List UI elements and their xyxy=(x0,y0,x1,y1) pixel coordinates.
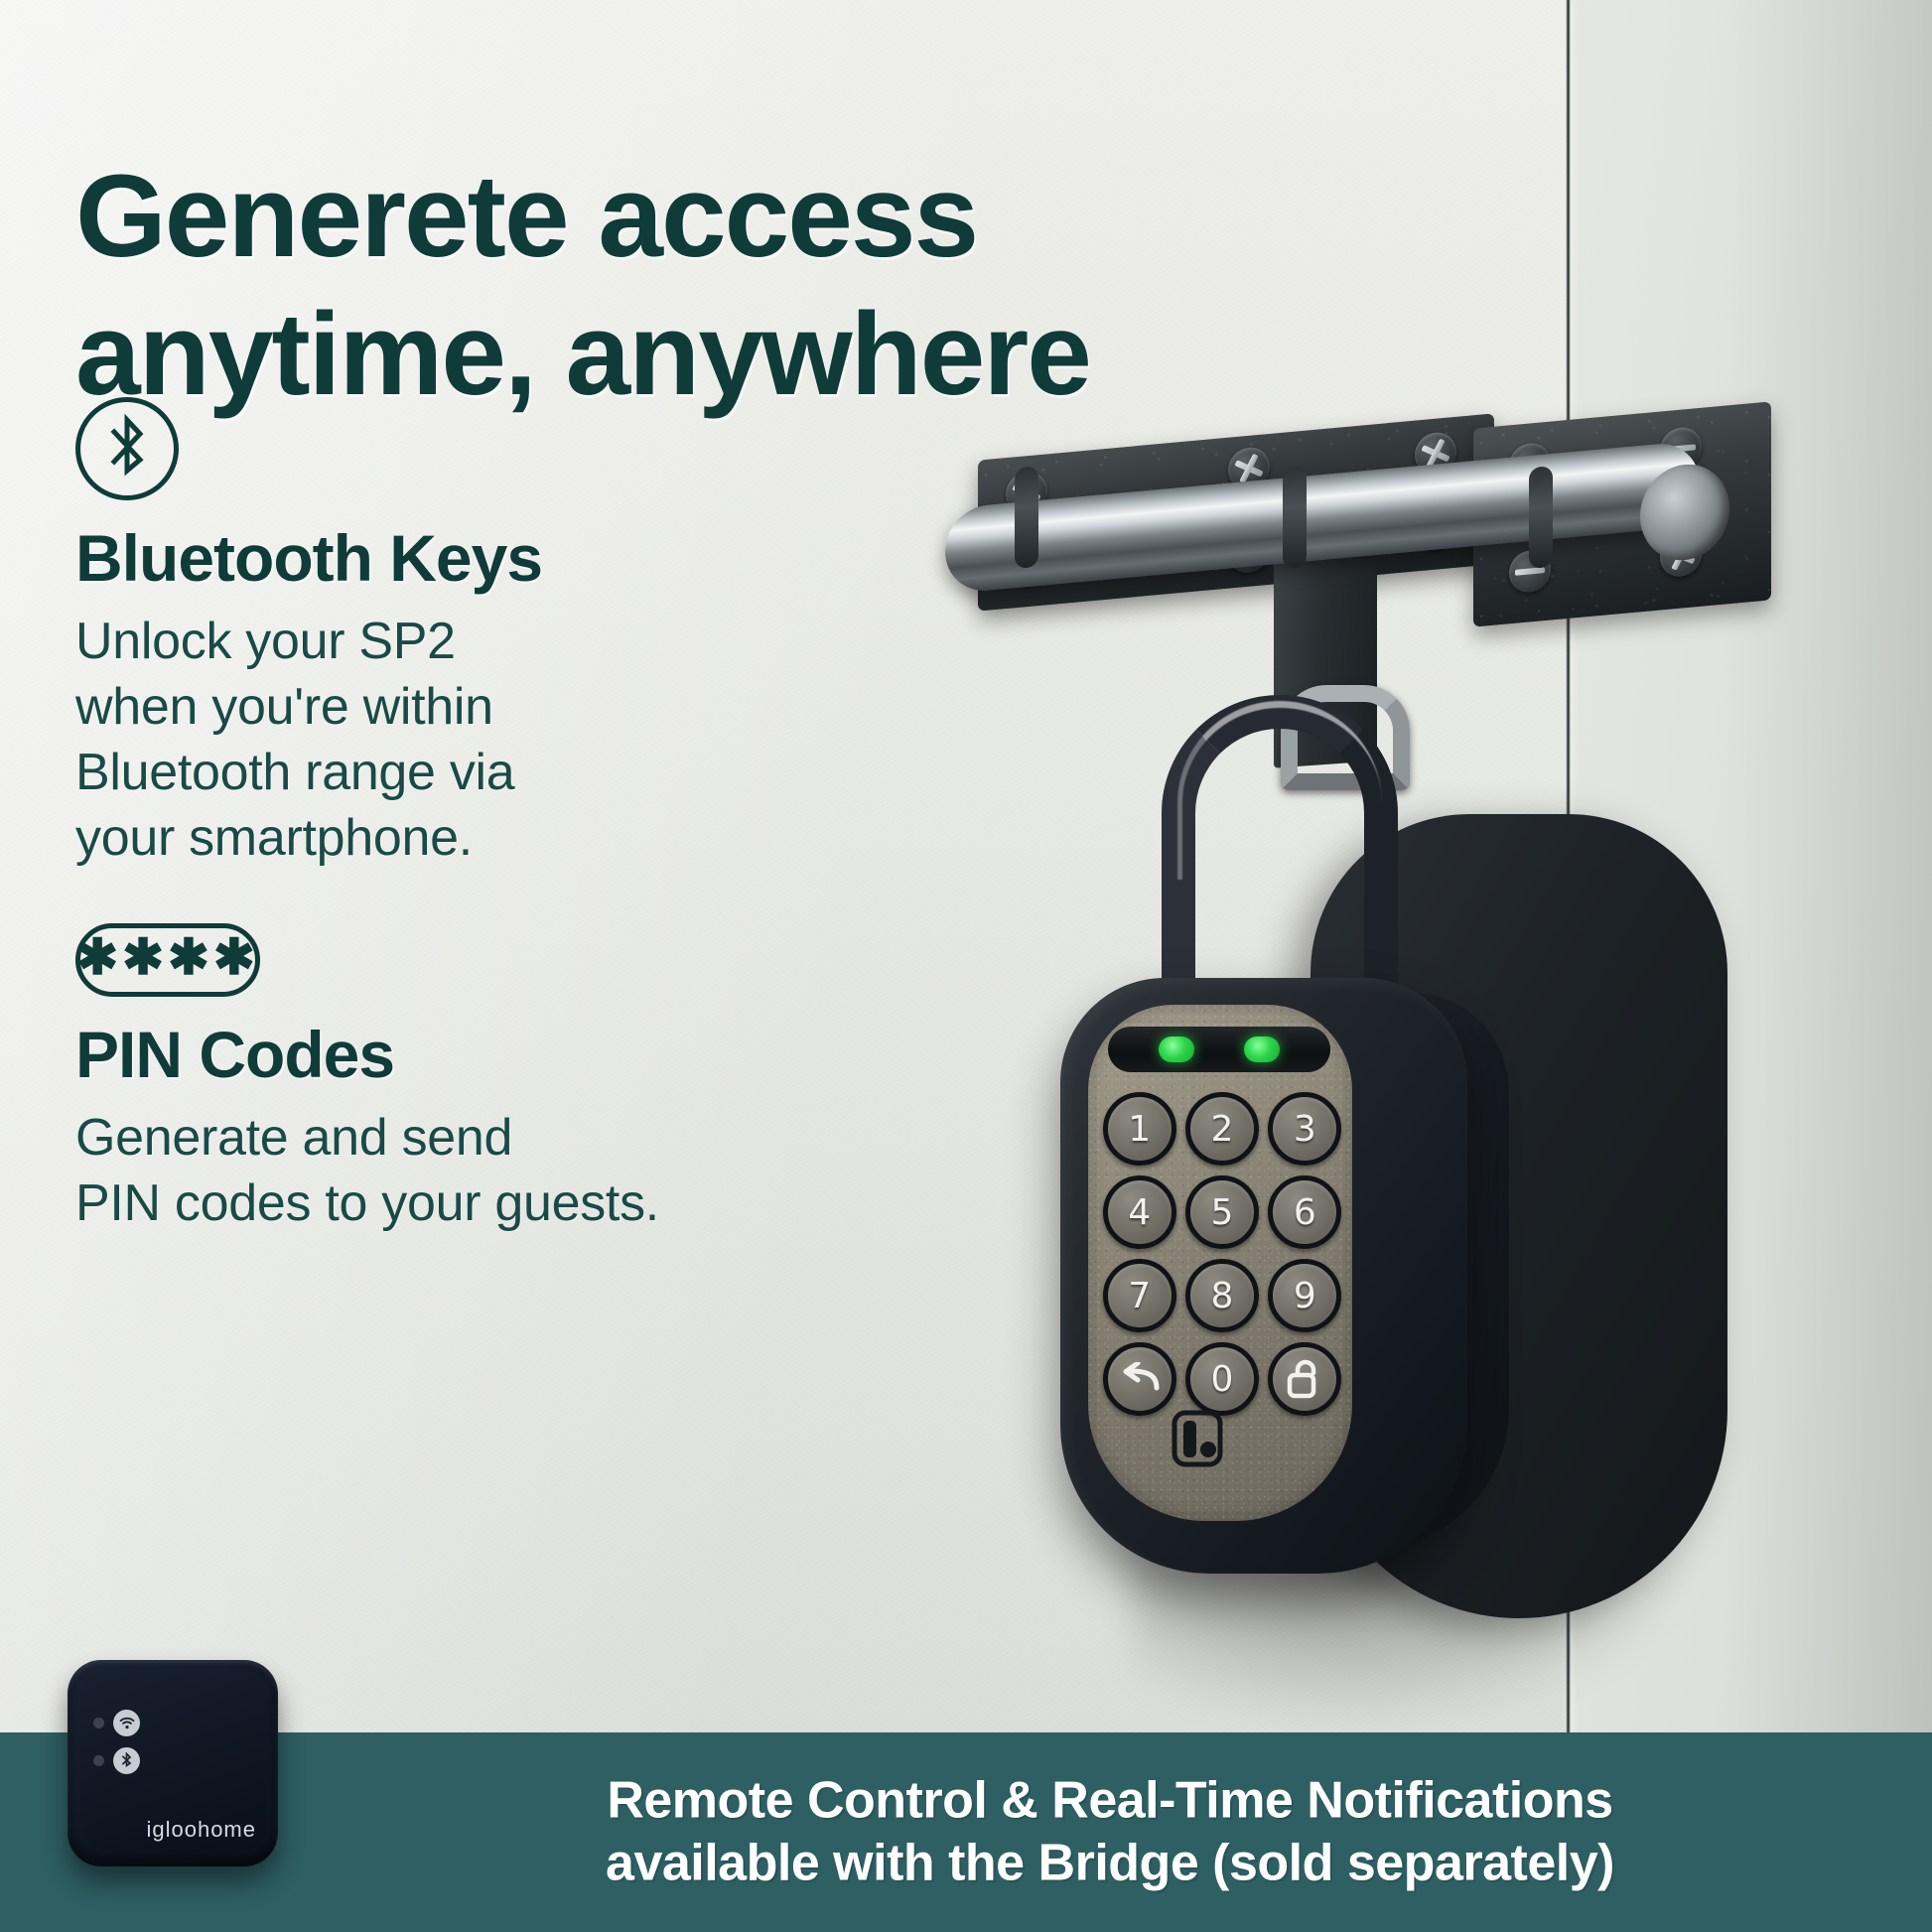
banner-line-1: Remote Control & Real-Time Notifications xyxy=(328,1769,1892,1832)
keypad-key-5[interactable]: 5 xyxy=(1185,1175,1259,1249)
feature-title: Bluetooth Keys xyxy=(75,522,542,595)
keypad-key-0[interactable]: 0 xyxy=(1185,1342,1259,1416)
bottom-banner: Remote Control & Real-Time Notifications… xyxy=(0,1732,1932,1932)
bluetooth-icon xyxy=(113,1747,140,1774)
wall-shadow xyxy=(1724,0,1932,1932)
keypad-key-1[interactable]: 1 xyxy=(1103,1092,1176,1166)
keypad-key-9[interactable]: 9 xyxy=(1268,1259,1341,1332)
feature-body: Generate and send PIN codes to your gues… xyxy=(75,1105,659,1236)
feature-body-line: Unlock your SP2 xyxy=(75,609,542,674)
keypad-key-2[interactable]: 2 xyxy=(1185,1092,1259,1166)
bridge-brand-wordmark: igloohome xyxy=(146,1817,256,1843)
feature-body: Unlock your SP2 when you're within Bluet… xyxy=(75,609,542,871)
banner-line-2: available with the Bridge (sold separate… xyxy=(328,1833,1892,1895)
headline-line-1: Generete access xyxy=(75,151,977,282)
keypad-key-7[interactable]: 7 xyxy=(1103,1259,1176,1332)
bridge-indicator-group xyxy=(93,1710,140,1785)
bluetooth-icon xyxy=(75,397,179,500)
feature-body-line: when you're within xyxy=(75,674,542,740)
feature-body-line: Bluetooth range via xyxy=(75,740,542,805)
banner-text: Remote Control & Real-Time Notifications… xyxy=(328,1769,1892,1895)
igloohome-logo-mark xyxy=(1172,1410,1223,1467)
bridge-device: igloohome xyxy=(68,1660,278,1866)
keypad-unlock-icon[interactable] xyxy=(1268,1342,1341,1416)
feature-pin-codes: ✱✱✱✱ PIN Codes Generate and send PIN cod… xyxy=(75,923,659,1236)
led-indicator xyxy=(1244,1036,1280,1062)
feature-body-line: your smartphone. xyxy=(75,805,542,871)
pin-code-icon: ✱✱✱✱ xyxy=(75,923,260,997)
bridge-wifi-row xyxy=(93,1710,140,1736)
bridge-bluetooth-led xyxy=(93,1755,104,1766)
keypad-key-8[interactable]: 8 xyxy=(1185,1259,1259,1332)
keypad-back-arrow-icon[interactable] xyxy=(1103,1342,1176,1416)
lock-led-bar xyxy=(1108,1027,1330,1072)
bridge-bluetooth-row xyxy=(93,1747,140,1774)
bridge-wifi-led xyxy=(93,1718,104,1728)
poster-canvas: Generete access anytime, anywhere Blueto… xyxy=(0,0,1932,1932)
pin-code-asterisks: ✱✱✱✱ xyxy=(76,932,259,982)
wifi-icon xyxy=(113,1710,140,1736)
led-indicator xyxy=(1159,1036,1194,1062)
bolt-ring xyxy=(1015,466,1038,569)
lock-keypad[interactable]: 1 2 3 4 5 6 7 8 9 0 xyxy=(1100,1092,1344,1416)
keypad-key-6[interactable]: 6 xyxy=(1268,1175,1341,1249)
feature-body-line: PIN codes to your guests. xyxy=(75,1171,659,1236)
bolt-ring xyxy=(1529,466,1553,569)
page-title: Generete access anytime, anywhere xyxy=(75,148,1217,424)
keypad-key-4[interactable]: 4 xyxy=(1103,1175,1176,1249)
feature-bluetooth-keys: Bluetooth Keys Unlock your SP2 when you'… xyxy=(75,397,542,871)
feature-icon-wrap xyxy=(75,397,542,500)
feature-body-line: Generate and send xyxy=(75,1105,659,1171)
bolt-ring xyxy=(1283,466,1307,569)
keypad-key-3[interactable]: 3 xyxy=(1268,1092,1341,1166)
feature-icon-wrap: ✱✱✱✱ xyxy=(75,923,659,997)
feature-title: PIN Codes xyxy=(75,1019,659,1091)
